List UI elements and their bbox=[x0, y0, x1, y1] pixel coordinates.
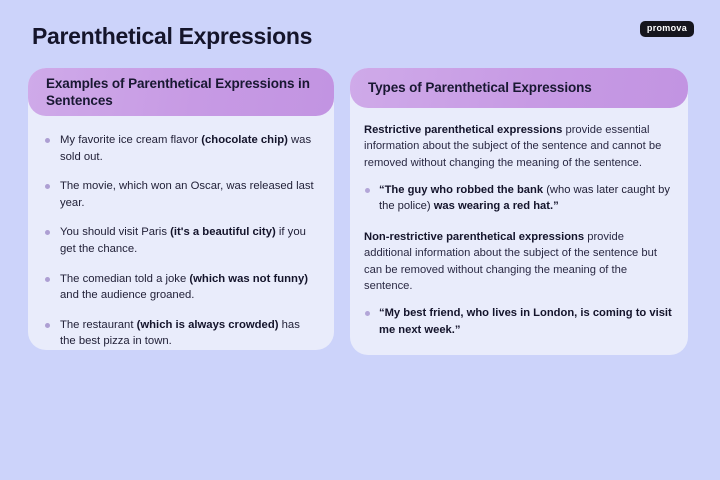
infographic-page: Parenthetical Expressions promova Exampl… bbox=[0, 0, 720, 480]
card-types-body: Restrictive parenthetical expressions pr… bbox=[350, 114, 688, 352]
emphasis-text: “The guy who robbed the bank bbox=[379, 184, 543, 196]
bullet-dot-icon bbox=[45, 184, 50, 189]
card-types: Types of Parenthetical Expressions Restr… bbox=[350, 68, 688, 355]
list-item: “My best friend, who lives in London, is… bbox=[364, 305, 674, 338]
body-text: and the audience groaned. bbox=[60, 289, 194, 301]
list-item: The restaurant (which is always crowded)… bbox=[44, 317, 318, 350]
bullet-dot-icon bbox=[45, 323, 50, 328]
card-types-title: Types of Parenthetical Expressions bbox=[368, 79, 592, 96]
body-text: My favorite ice cream flavor bbox=[60, 134, 201, 146]
card-examples-body: My favorite ice cream flavor (chocolate … bbox=[28, 122, 334, 363]
examples-list: My favorite ice cream flavor (chocolate … bbox=[44, 132, 318, 350]
emphasis-text: (chocolate chip) bbox=[201, 134, 288, 146]
emphasis-text: (it's a beautiful city) bbox=[170, 226, 276, 238]
list-item: The movie, which won an Oscar, was relea… bbox=[44, 178, 318, 211]
example-list: “My best friend, who lives in London, is… bbox=[364, 305, 674, 338]
emphasis-text: Non-restrictive parenthetical expression… bbox=[364, 231, 584, 243]
body-text: The comedian told a joke bbox=[60, 273, 189, 285]
definition-paragraph: Restrictive parenthetical expressions pr… bbox=[364, 122, 674, 171]
card-examples: Examples of Parenthetical Expressions in… bbox=[28, 68, 334, 350]
emphasis-text: “My best friend, who lives in London, is… bbox=[379, 307, 672, 335]
list-item: My favorite ice cream flavor (chocolate … bbox=[44, 132, 318, 165]
promova-logo: promova bbox=[640, 21, 694, 37]
body-text: You should visit Paris bbox=[60, 226, 170, 238]
list-item: The comedian told a joke (which was not … bbox=[44, 271, 318, 304]
card-types-header: Types of Parenthetical Expressions bbox=[350, 68, 688, 108]
list-item: You should visit Paris (it's a beautiful… bbox=[44, 224, 318, 257]
bullet-dot-icon bbox=[365, 311, 370, 316]
emphasis-text: was wearing a red hat.” bbox=[434, 200, 559, 212]
page-title: Parenthetical Expressions bbox=[32, 24, 312, 49]
emphasis-text: (which was not funny) bbox=[189, 273, 308, 285]
bullet-dot-icon bbox=[45, 138, 50, 143]
definition-paragraph: Non-restrictive parenthetical expression… bbox=[364, 229, 674, 294]
bullet-dot-icon bbox=[45, 277, 50, 282]
bullet-dot-icon bbox=[365, 188, 370, 193]
card-examples-title: Examples of Parenthetical Expressions in… bbox=[46, 75, 316, 110]
body-text: The movie, which won an Oscar, was relea… bbox=[60, 180, 314, 209]
body-text: The restaurant bbox=[60, 319, 137, 331]
bullet-dot-icon bbox=[45, 230, 50, 235]
emphasis-text: Restrictive parenthetical expressions bbox=[364, 124, 562, 136]
emphasis-text: (which is always crowded) bbox=[137, 319, 279, 331]
card-examples-header: Examples of Parenthetical Expressions in… bbox=[28, 68, 334, 116]
example-list: “The guy who robbed the bank (who was la… bbox=[364, 182, 674, 215]
list-item: “The guy who robbed the bank (who was la… bbox=[364, 182, 674, 215]
